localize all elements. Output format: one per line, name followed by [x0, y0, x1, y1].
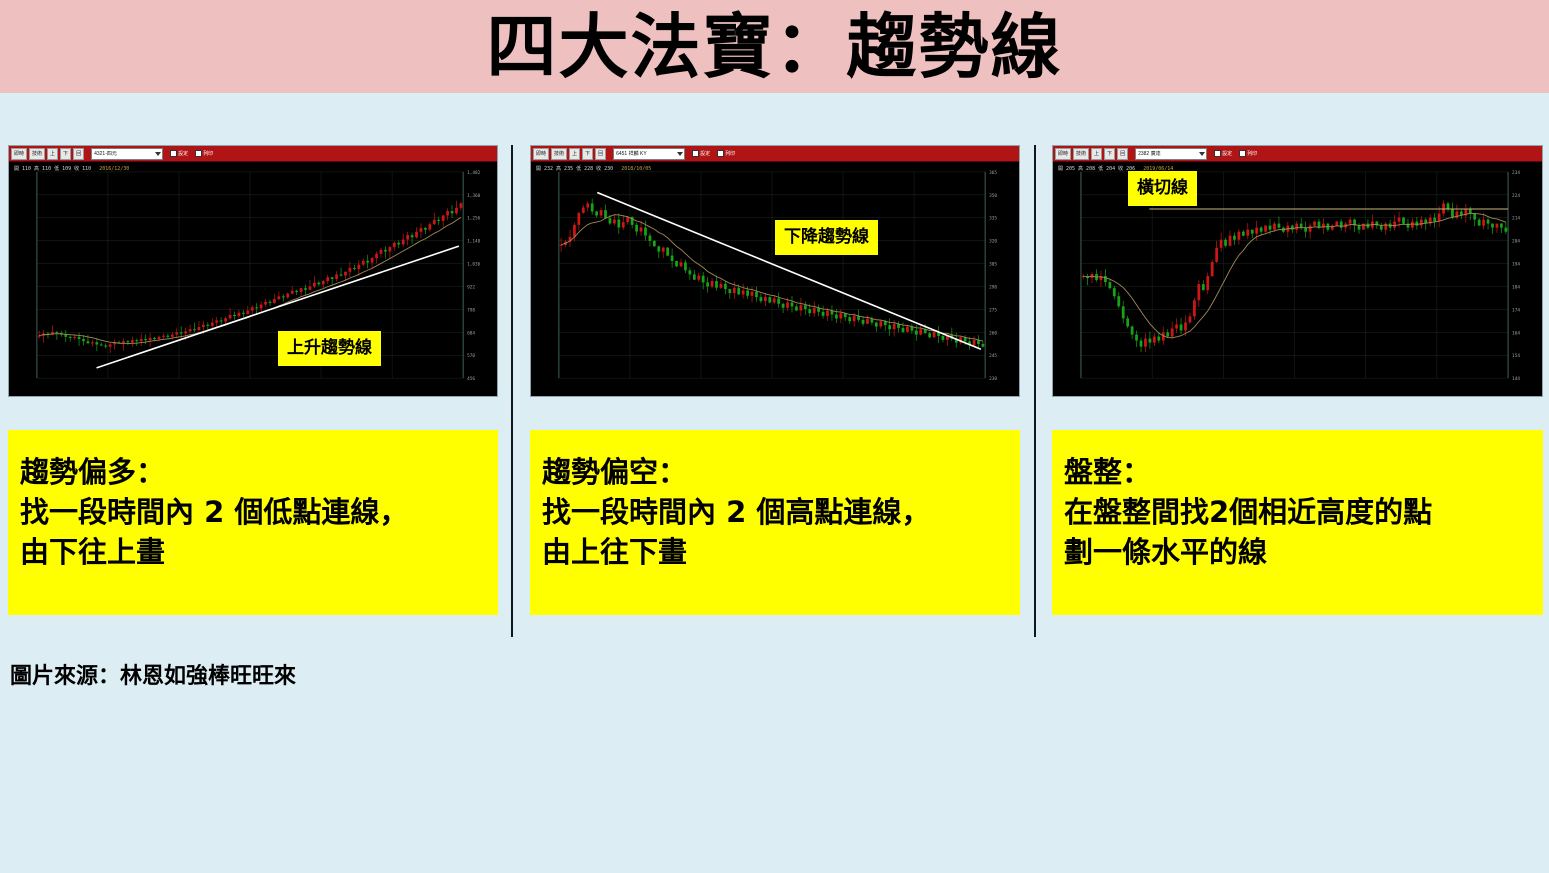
- toolbar-button-technical[interactable]: 技術: [551, 148, 567, 160]
- toolbar-checkbox-settings[interactable]: 設定: [1214, 150, 1232, 157]
- chart-window-range[interactable]: 即時 技術 上 下 回 2382 廣達 設定 列印 開: [1052, 145, 1543, 397]
- svg-text:1,036: 1,036: [467, 262, 481, 268]
- svg-text:305: 305: [989, 262, 997, 268]
- svg-text:922: 922: [467, 284, 475, 290]
- caption-line: 由上往下畫: [542, 532, 1008, 572]
- toolbar-checkbox-print-label: 列印: [725, 150, 735, 157]
- svg-text:164: 164: [1512, 330, 1520, 336]
- toolbar-button-down[interactable]: 下: [1104, 148, 1115, 160]
- svg-text:275: 275: [989, 307, 997, 313]
- caption-box-uptrend: 趨勢偏多： 找一段時間內 2 個低點連線， 由下往上畫: [8, 430, 498, 615]
- svg-text:260: 260: [989, 330, 997, 336]
- svg-text:174: 174: [1512, 307, 1520, 313]
- toolbar-button-realtime[interactable]: 即時: [1055, 148, 1071, 160]
- symbol-combobox-value: 6451 祥麟 KY: [616, 151, 647, 157]
- chart-plot-range[interactable]: 234224214204194184174164154144: [1053, 162, 1542, 396]
- checkbox-icon: [692, 150, 699, 157]
- toolbar-button-technical[interactable]: 技術: [29, 148, 45, 160]
- symbol-combobox-value: 4321-四元: [94, 151, 117, 157]
- panel-uptrend: 即時 技術 上 下 回 4321-四元 設定 列印 開: [8, 145, 498, 397]
- svg-text:1,148: 1,148: [467, 239, 481, 245]
- source-footer: 圖片來源：林恩如強棒旺旺來: [10, 658, 296, 690]
- toolbar-checkbox-settings-label: 設定: [178, 150, 188, 157]
- svg-text:1,482: 1,482: [467, 170, 481, 176]
- checkbox-icon: [1214, 150, 1221, 157]
- chart-infoline-downtrend: 開 232 高 235 低 228 收 230 2018/10/05: [536, 165, 651, 172]
- svg-text:230: 230: [989, 376, 997, 382]
- chevron-down-icon: [677, 152, 683, 156]
- svg-text:154: 154: [1512, 353, 1520, 359]
- svg-text:320: 320: [989, 239, 997, 245]
- toolbar-button-technical[interactable]: 技術: [1073, 148, 1089, 160]
- checkbox-icon: [1239, 150, 1246, 157]
- chart-date: 2018/10/05: [621, 166, 651, 172]
- toolbar-button-down[interactable]: 下: [60, 148, 71, 160]
- toolbar-checkbox-settings-label: 設定: [700, 150, 710, 157]
- svg-text:365: 365: [989, 170, 997, 176]
- svg-text:1,256: 1,256: [467, 216, 481, 222]
- toolbar-checkbox-settings-label: 設定: [1222, 150, 1232, 157]
- caption-line: 找一段時間內 2 個高點連線，: [542, 492, 1008, 532]
- svg-text:335: 335: [989, 216, 997, 222]
- toolbar-button-down[interactable]: 下: [582, 148, 593, 160]
- chart-toolbar-uptrend[interactable]: 即時 技術 上 下 回 4321-四元 設定 列印: [9, 146, 497, 162]
- chart-plot-downtrend[interactable]: 365350335320305290275260245230: [531, 162, 1019, 396]
- caption-line: 找一段時間內 2 個低點連線，: [20, 492, 486, 532]
- symbol-combobox-value: 2382 廣達: [1138, 151, 1161, 157]
- svg-text:684: 684: [467, 330, 475, 336]
- caption-line: 盤整：: [1064, 452, 1531, 492]
- checkbox-icon: [170, 150, 177, 157]
- svg-text:570: 570: [467, 353, 475, 359]
- toolbar-checkbox-settings[interactable]: 設定: [692, 150, 710, 157]
- caption-box-range: 盤整： 在盤整間找2個相近高度的點 劃一條水平的線: [1052, 430, 1543, 615]
- annotation-chip-range: 橫切線: [1128, 171, 1197, 206]
- svg-text:245: 245: [989, 353, 997, 359]
- toolbar-checkbox-print[interactable]: 列印: [717, 150, 735, 157]
- svg-text:184: 184: [1512, 284, 1520, 290]
- toolbar-button-back[interactable]: 回: [595, 148, 606, 160]
- panel-range: 即時 技術 上 下 回 2382 廣達 設定 列印 開: [1052, 145, 1543, 397]
- title-banner: 四大法寶：趨勢線: [0, 0, 1549, 93]
- svg-text:214: 214: [1512, 216, 1520, 222]
- chart-plot-uptrend[interactable]: 1,4821,3601,2561,1481,036922798684570456: [9, 162, 497, 396]
- toolbar-checkbox-print-label: 列印: [203, 150, 213, 157]
- toolbar-button-up[interactable]: 上: [569, 148, 580, 160]
- svg-text:456: 456: [467, 376, 475, 382]
- chart-toolbar-downtrend[interactable]: 即時 技術 上 下 回 6451 祥麟 KY 設定 列印: [531, 146, 1019, 162]
- caption-line: 在盤整間找2個相近高度的點: [1064, 492, 1531, 532]
- chart-window-uptrend[interactable]: 即時 技術 上 下 回 4321-四元 設定 列印 開: [8, 145, 498, 397]
- svg-text:290: 290: [989, 284, 997, 290]
- chart-window-downtrend[interactable]: 即時 技術 上 下 回 6451 祥麟 KY 設定 列印: [530, 145, 1020, 397]
- caption-line: 趨勢偏多：: [20, 452, 486, 492]
- column-divider-2: [1034, 145, 1036, 637]
- chart-toolbar-range[interactable]: 即時 技術 上 下 回 2382 廣達 設定 列印: [1053, 146, 1542, 162]
- toolbar-button-back[interactable]: 回: [73, 148, 84, 160]
- panel-downtrend: 即時 技術 上 下 回 6451 祥麟 KY 設定 列印: [530, 145, 1020, 397]
- toolbar-button-realtime[interactable]: 即時: [533, 148, 549, 160]
- svg-text:350: 350: [989, 193, 997, 199]
- column-divider-1: [511, 145, 513, 637]
- svg-text:234: 234: [1512, 170, 1520, 176]
- chart-infoline-uptrend: 開 110 高 110 低 109 收 110 2016/12/30: [14, 165, 129, 172]
- toolbar-button-up[interactable]: 上: [1091, 148, 1102, 160]
- ohlc-text: 開 110 高 110 低 109 收 110: [14, 166, 91, 172]
- toolbar-checkbox-print[interactable]: 列印: [195, 150, 213, 157]
- checkbox-icon: [717, 150, 724, 157]
- svg-text:144: 144: [1512, 376, 1520, 382]
- svg-text:224: 224: [1512, 193, 1520, 199]
- symbol-combobox[interactable]: 2382 廣達: [1135, 148, 1207, 160]
- candlestick-svg-uptrend: 1,4821,3601,2561,1481,036922798684570456: [9, 162, 497, 396]
- caption-box-downtrend: 趨勢偏空： 找一段時間內 2 個高點連線， 由上往下畫: [530, 430, 1020, 615]
- toolbar-checkbox-print[interactable]: 列印: [1239, 150, 1257, 157]
- caption-line: 趨勢偏空：: [542, 452, 1008, 492]
- svg-text:798: 798: [467, 307, 475, 313]
- svg-text:194: 194: [1512, 262, 1520, 268]
- toolbar-checkbox-settings[interactable]: 設定: [170, 150, 188, 157]
- page-title: 四大法寶：趨勢線: [487, 12, 1063, 82]
- candlestick-svg-range: 234224214204194184174164154144: [1053, 162, 1542, 396]
- toolbar-button-back[interactable]: 回: [1117, 148, 1128, 160]
- chevron-down-icon: [1199, 152, 1205, 156]
- annotation-chip-downtrend: 下降趨勢線: [775, 220, 878, 255]
- chevron-down-icon: [155, 152, 161, 156]
- slide-root: 四大法寶：趨勢線 即時 技術 上 下 回 4321-四元 設定: [0, 0, 1549, 873]
- svg-text:1,360: 1,360: [467, 193, 481, 199]
- chart-date: 2016/12/30: [99, 166, 129, 172]
- annotation-chip-uptrend: 上升趨勢線: [278, 331, 381, 366]
- toolbar-button-up[interactable]: 上: [47, 148, 58, 160]
- caption-line: 由下往上畫: [20, 532, 486, 572]
- candlestick-svg-downtrend: 365350335320305290275260245230: [531, 162, 1019, 396]
- ohlc-text: 開 205 高 208 低 204 收 206: [1058, 166, 1135, 172]
- svg-text:204: 204: [1512, 239, 1520, 245]
- toolbar-checkbox-print-label: 列印: [1247, 150, 1257, 157]
- ohlc-text: 開 232 高 235 低 228 收 230: [536, 166, 613, 172]
- checkbox-icon: [195, 150, 202, 157]
- symbol-combobox[interactable]: 6451 祥麟 KY: [613, 148, 685, 160]
- toolbar-button-realtime[interactable]: 即時: [11, 148, 27, 160]
- symbol-combobox[interactable]: 4321-四元: [91, 148, 163, 160]
- caption-line: 劃一條水平的線: [1064, 532, 1531, 572]
